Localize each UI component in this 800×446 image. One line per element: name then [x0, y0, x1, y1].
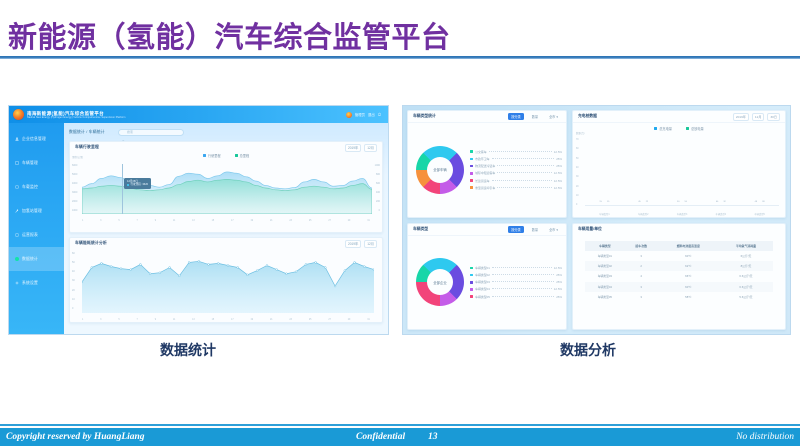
legend-label: 行驶里程	[208, 153, 221, 158]
header-user-name: 管理员	[355, 112, 365, 117]
app-body: 企业信息管理 车辆管理 车载监控	[9, 123, 388, 334]
x-axis: 13 57 911 1315 1719 2123 2527 2931	[70, 319, 382, 321]
table-cell: 60℃	[658, 251, 719, 261]
donut-center-label: 全部车辆	[416, 146, 464, 194]
sidebar-item-enterprise[interactable]: 企业信息管理	[9, 127, 64, 151]
table-cell: 车辆类型04	[585, 282, 625, 292]
table-column-header: 车辆类型	[585, 241, 625, 251]
sidebar-item-label: 车载监控	[22, 185, 38, 190]
sidebar-item-monitor[interactable]: 车载监控	[9, 175, 64, 199]
year-select[interactable]: 2019年	[733, 113, 749, 121]
energy-area-chart: 60 50 40 30 20 10 0 13 57 911	[70, 249, 382, 321]
sidebar: 企业信息管理 车辆管理 车载监控	[9, 123, 64, 334]
x-tick-label: 车辆类型1	[597, 212, 611, 216]
card-title: 车辆能耗统计分析	[75, 241, 107, 246]
caption-right: 数据分析	[560, 340, 616, 360]
footer-page-number: 13	[428, 432, 438, 442]
energy-area-svg	[82, 251, 374, 313]
card-title: 车辆用量/单位	[578, 227, 602, 232]
table-header-row: 车辆类型接车次数燃料电池最高温度平均氢气消耗量	[585, 241, 773, 251]
chart-tooltip: 12月08日 行驶里程: 3620	[124, 178, 151, 189]
donut-legend: 公交客车12.5% 市政环卫车25% 物流配送冷链车25% 城际中短途客车12.…	[464, 150, 562, 190]
table-cell: 车辆类型02	[585, 261, 625, 271]
bar-plot-area: 15154522305560324838	[585, 139, 779, 206]
card-header: 车辆用量/单位	[573, 224, 785, 236]
footer-divider	[0, 424, 800, 426]
app-header: 南海新能源(氢能)汽车综合监管平台 Nanhai New Energy (Hyd…	[9, 106, 388, 123]
table-cell: 3	[625, 251, 658, 261]
card-vehicle-mileage: 车辆行驶里程 2019年 12月 行驶里程 总里程 里程(公里) 6000	[69, 141, 383, 233]
table-column-header: 平均氢气消耗量	[719, 241, 773, 251]
region-filter-select[interactable]: 全市 ▾	[546, 226, 561, 233]
screenshot-right-dashboard: 车辆类型统计 按分类 数量 全市 ▾ 全部车辆 公交客车12.5% 市政环卫车2…	[402, 105, 791, 335]
card-date-filters[interactable]: 2019年 12月	[345, 240, 377, 248]
tab-group[interactable]: 按分类 数量 全市 ▾	[508, 226, 561, 233]
month-select[interactable]: 12月	[752, 113, 765, 121]
legend-item: 行驶里程	[203, 153, 221, 158]
table-row: 车辆类型03466℃6.6公斤/天	[585, 271, 773, 281]
table-cell: 车辆类型03	[585, 271, 625, 281]
x-tick-label: 车辆类型5	[753, 212, 767, 216]
search-placeholder: 搜索	[127, 130, 133, 134]
card-header: 车辆能耗统计分析 2019年 12月	[70, 238, 382, 249]
y-axis-left: 60 50 40 30 20 10 0	[72, 252, 75, 310]
legend-item: 车辆类型0225%	[470, 273, 562, 277]
donut-section: 全部车辆 公交客车12.5% 市政环卫车25% 物流配送冷链车25% 城际中短途…	[408, 123, 566, 217]
card-title: 车辆类型	[413, 227, 428, 232]
sidebar-item-vehicle[interactable]: 车辆管理	[9, 151, 64, 175]
legend-item: 长途货运车12.5%	[470, 179, 562, 183]
month-select[interactable]: 12月	[364, 144, 377, 152]
search-input[interactable]: 搜索	[118, 129, 184, 136]
card-date-filters[interactable]: 2019年 12月 30日	[733, 113, 780, 121]
table-cell: 6公斤/天	[719, 251, 773, 261]
table-row: 车辆类型04360℃6.6公斤/天	[585, 282, 773, 292]
card-header: 车辆类型统计 按分类 数量 全市 ▾	[408, 111, 566, 123]
title-divider	[0, 56, 800, 59]
page-title: 新能源（氢能）汽车综合监管平台	[8, 14, 451, 56]
month-select[interactable]: 12月	[364, 240, 377, 248]
table-wrapper: 车辆类型接车次数燃料电池最高温度平均氢气消耗量 车辆类型01360℃6公斤/天车…	[573, 236, 785, 330]
header-user-area[interactable]: 管理员 退出 ⏻	[346, 112, 384, 118]
header-logout-label[interactable]: 退出	[368, 112, 375, 117]
sidebar-item-settings[interactable]: 系统设置	[9, 271, 64, 295]
card-title: 车辆类型统计	[413, 114, 436, 119]
y-axis-right: 1000 800 600 400 200 0	[375, 164, 380, 212]
table-cell: 3	[625, 292, 658, 302]
tab-by-category[interactable]: 按分类	[508, 113, 524, 120]
card-title: 车辆行驶里程	[75, 145, 99, 150]
table-cell: 58℃	[658, 292, 719, 302]
x-tick-label: 车辆类型3	[675, 212, 689, 216]
analysis-grid: 车辆类型统计 按分类 数量 全市 ▾ 全部车辆 公交客车12.5% 市政环卫车2…	[407, 110, 786, 330]
table-cell: 6.6公斤/天	[719, 282, 773, 292]
table-row: 车辆类型01360℃6公斤/天	[585, 251, 773, 261]
chart-legend: 行驶里程 总里程	[70, 153, 382, 158]
breadcrumb: 数据统计 / 车辆统计	[69, 130, 105, 135]
donut-center-label: 全部企业	[416, 258, 464, 306]
table-column-header: 接车次数	[625, 241, 658, 251]
card-vehicle-type-enterprise: 车辆类型 按分类 数量 全市 ▾ 全部企业 车辆类型0112.5% 车辆类型02…	[407, 223, 567, 331]
search-icon	[122, 130, 125, 133]
card-header: 车辆类型 按分类 数量 全市 ▾	[408, 224, 566, 236]
x-axis: 13 57 911 1315 1719 2123 2527 2931	[70, 220, 382, 222]
table-cell: 3	[625, 282, 658, 292]
sidebar-item-label: 数据统计	[22, 257, 38, 262]
year-select[interactable]: 2019年	[345, 240, 361, 248]
tooltip-value-row: 行驶里程: 3620	[127, 183, 148, 186]
legend-item: 车辆类型0325%	[470, 280, 562, 284]
sidebar-item-label: 车辆管理	[22, 161, 38, 166]
donut-legend: 车辆类型0112.5% 车辆类型0225% 车辆类型0325% 车辆类型0412…	[464, 266, 562, 299]
footer-no-distribution: No distribution	[736, 432, 794, 442]
slide-footer: Copyright reserved by HuangLiang Confide…	[0, 428, 800, 446]
caption-left: 数据统计	[160, 340, 216, 360]
sidebar-item-report[interactable]: 运营报表	[9, 223, 64, 247]
chart-icon	[15, 257, 19, 261]
y-axis-left: 6000 5000 4000 3000 2000 1000	[72, 164, 77, 212]
card-vehicle-type-stats: 车辆类型统计 按分类 数量 全市 ▾ 全部车辆 公交客车12.5% 市政环卫车2…	[407, 110, 567, 218]
power-icon[interactable]: ⏻	[378, 112, 381, 117]
screenshot-left-dashboard: 南海新能源(氢能)汽车综合监管平台 Nanhai New Energy (Hyd…	[8, 105, 389, 335]
legend-item: 总里程	[235, 153, 250, 158]
card-energy-analysis: 车辆能耗统计分析 2019年 12月 60 50 40 30 20	[69, 237, 383, 323]
legend-item: 城际中短途客车12.5%	[470, 171, 562, 175]
tab-group[interactable]: 按分类 数量 全市 ▾	[508, 113, 561, 120]
y-axis-unit: 数量(台)	[576, 131, 584, 135]
table-cell: 4	[625, 271, 658, 281]
legend-item: 车辆类型0525%	[470, 295, 562, 299]
footer-copyright: Copyright reserved by HuangLiang	[6, 432, 145, 442]
y-axis-unit: 里程(公里)	[72, 155, 83, 159]
card-header: 车辆行驶里程 2019年 12月	[70, 142, 382, 153]
table-cell: 2	[625, 261, 658, 271]
brand-en: Nanhai New Energy (Hydrogen Energy) Vehi…	[27, 116, 125, 119]
footer-confidential: Confidential	[356, 432, 405, 442]
user-icon	[15, 137, 19, 141]
legend-item: 公交客车12.5%	[470, 150, 562, 154]
monitor-icon	[15, 185, 19, 189]
wrench-icon	[15, 209, 19, 213]
x-tick-label: 车辆类型2	[636, 212, 650, 216]
chevron-down-icon: ▾	[556, 115, 558, 119]
crumb-bar: 数据统计 / 车辆统计 搜索	[69, 127, 383, 137]
card-title: 充电桩数据	[578, 114, 597, 119]
legend-item: 物流配送冷链车25%	[470, 164, 562, 168]
avatar	[346, 112, 352, 118]
card-date-filters[interactable]: 2019年 12月	[345, 144, 377, 152]
report-icon	[15, 233, 19, 237]
x-axis: 车辆类型1车辆类型2车辆类型3车辆类型4车辆类型5	[585, 212, 779, 216]
sidebar-item-label: 系统设置	[22, 281, 38, 286]
sun-emblem-logo	[13, 109, 24, 120]
donut-section: 全部企业 车辆类型0112.5% 车辆类型0225% 车辆类型0325% 车辆类…	[408, 236, 566, 330]
card-header: 充电桩数据 2019年 12月 30日	[573, 111, 785, 123]
table-cell: 8公斤/天	[719, 261, 773, 271]
usage-table: 车辆类型接车次数燃料电池最高温度平均氢气消耗量 车辆类型01360℃6公斤/天车…	[585, 241, 773, 303]
mileage-area-chart: 里程(公里) 6000 5000 4000 3000 2000 1000 100…	[70, 160, 382, 222]
sidebar-item-data-statistics[interactable]: 数据统计	[9, 247, 64, 271]
tab-by-count[interactable]: 数量	[529, 113, 541, 120]
year-select[interactable]: 2019年	[345, 144, 361, 152]
table-cell: 66℃	[658, 271, 719, 281]
table-cell: 6.6公斤/天	[719, 271, 773, 281]
x-tick-label: 车辆类型4	[714, 212, 728, 216]
charging-bar-chart: 数量(台) 706050403020100 151545223055603248…	[573, 131, 785, 217]
legend-item: 重型货运牵引车12.5%	[470, 186, 562, 190]
table-row: 车辆类型02262℃8公斤/天	[585, 261, 773, 271]
sidebar-item-label: 企业信息管理	[22, 137, 46, 142]
content-area: 数据统计 / 车辆统计 搜索 车辆行驶里程 2019年 12月	[64, 123, 388, 334]
card-vehicle-usage-table: 车辆用量/单位 车辆类型接车次数燃料电池最高温度平均氢气消耗量 车辆类型0136…	[572, 223, 786, 331]
legend-item: 车辆类型0412.5%	[470, 287, 562, 291]
region-filter-select[interactable]: 全市 ▾	[546, 113, 561, 120]
table-cell: 车辆类型01	[585, 251, 625, 261]
table-row: 车辆类型05358℃5.6公斤/天	[585, 292, 773, 302]
table-cell: 62℃	[658, 261, 719, 271]
legend-item: 市政环卫车25%	[470, 157, 562, 161]
table-cell: 60℃	[658, 282, 719, 292]
vehicle-type-donut-chart: 全部车辆	[416, 146, 464, 194]
legend-label: 总里程	[240, 153, 250, 158]
day-select[interactable]: 30日	[767, 113, 780, 121]
sidebar-item-station[interactable]: 加氢站管理	[9, 199, 64, 223]
table-cell: 车辆类型05	[585, 292, 625, 302]
slide: 新能源（氢能）汽车综合监管平台 南海新能源(氢能)汽车综合监管平台 Nanhai…	[0, 0, 800, 446]
table-column-header: 燃料电池最高温度	[658, 241, 719, 251]
tab-by-count[interactable]: 数量	[529, 226, 541, 233]
sidebar-item-label: 运营报表	[22, 233, 38, 238]
enterprise-donut-chart: 全部企业	[416, 258, 464, 306]
sidebar-item-label: 加氢站管理	[22, 209, 42, 214]
table-cell: 5.6公斤/天	[719, 292, 773, 302]
brand-block: 南海新能源(氢能)汽车综合监管平台 Nanhai New Energy (Hyd…	[27, 111, 125, 119]
car-icon	[15, 161, 19, 165]
gear-icon	[15, 281, 19, 285]
chevron-down-icon: ▾	[556, 228, 558, 232]
card-charging-data: 充电桩数据 2019年 12月 30日 总充电量 总放电量 数量(台) 7060…	[572, 110, 786, 218]
y-axis: 706050403020100	[576, 139, 579, 207]
tab-by-category[interactable]: 按分类	[508, 226, 524, 233]
legend-item: 车辆类型0112.5%	[470, 266, 562, 270]
